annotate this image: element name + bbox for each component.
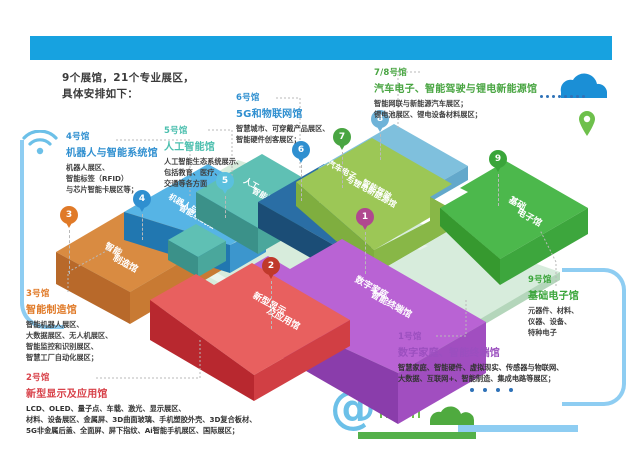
hall-2-desc: LCD、OLED、量子点、车载、激光、显示展区、 材料、设备展区、金属屏、3D曲…: [26, 403, 326, 436]
callout-hall-1[interactable]: 1号馆 数字家庭、智能终端馆 智慧家庭、智能硬件、虚拟现实、传感器与物联网、 大…: [398, 330, 628, 384]
hall-1-desc: 智慧家庭、智能硬件、虚拟现实、传感器与物联网、 大数据、互联网+、智能制造、集成…: [398, 362, 628, 384]
callout-hall-3[interactable]: 3号馆 智能制造馆 智能机器人展区、 大数据展区、无人机展区、 智能监控和识别展…: [26, 287, 176, 363]
hall-6-desc: 智慧城市、可穿戴产品展区、 智能硬件创客展区；: [236, 123, 386, 145]
callout-hall-6[interactable]: 6号馆 5G和物联网馆 智慧城市、可穿戴产品展区、 智能硬件创客展区；: [236, 91, 386, 145]
hall-3-desc: 智能机器人展区、 大数据展区、无人机展区、 智能监控和识别展区、 智慧工厂自动化…: [26, 319, 176, 363]
hall-3-number: 3号馆: [26, 287, 176, 299]
hall-pin-3[interactable]: 3: [60, 206, 78, 230]
hall-pin-9[interactable]: 9: [489, 150, 507, 174]
hall-2-number: 2号馆: [26, 371, 326, 383]
hall-78-desc: 智能网联与新能源汽车展区； 锂电池展区、锂电设备材料展区；: [374, 98, 574, 120]
hall-pin-2[interactable]: 2: [262, 257, 280, 281]
callout-hall-78[interactable]: 7/8号馆 汽车电子、智能驾驶与锂电新能源馆 智能网联与新能源汽车展区； 锂电池…: [374, 66, 574, 120]
hall-1-title: 数字家庭、智能终端馆: [398, 344, 628, 359]
callout-hall-2[interactable]: 2号馆 新型显示及应用馆 LCD、OLED、量子点、车载、激光、显示展区、 材料…: [26, 371, 326, 436]
hall-3-title: 智能制造馆: [26, 301, 176, 316]
hall-9-number: 9号馆: [528, 273, 628, 285]
callout-hall-9[interactable]: 9号馆 基础电子馆 元器件、材料、 仪器、设备、 特种电子: [528, 273, 628, 338]
hall-78-number: 7/8号馆: [374, 66, 574, 78]
hall-6-number: 6号馆: [236, 91, 386, 103]
hall-2-title: 新型显示及应用馆: [26, 385, 326, 400]
hall-5-desc: 人工智能生态系统展示、 包括教育、医疗、 交通等各方面: [164, 156, 284, 189]
hall-9-title: 基础电子馆: [528, 287, 628, 302]
hall-1-number: 1号馆: [398, 330, 628, 342]
hall-6-title: 5G和物联网馆: [236, 105, 386, 120]
hall-pin-1[interactable]: 1: [356, 208, 374, 232]
hall-78-title: 汽车电子、智能驾驶与锂电新能源馆: [374, 80, 574, 95]
infographic-page: 9个展馆，21个专业展区， 具体安排如下： @: [0, 0, 640, 461]
